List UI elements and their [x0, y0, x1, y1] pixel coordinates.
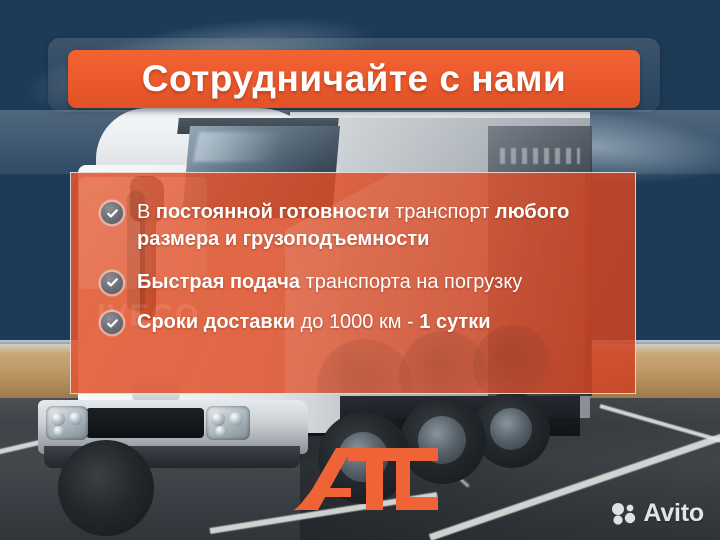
headlight-lamp [53, 426, 65, 437]
ghost-wheel [399, 331, 489, 393]
wheel-hub [490, 408, 532, 450]
mid-overlay-veil [0, 110, 720, 174]
feature-list: В постоянной готовности транспорт любого… [95, 199, 613, 336]
headlight-lamp [211, 412, 225, 426]
bumper-grille [86, 408, 204, 438]
list-item: В постоянной готовности транспорт любого… [95, 199, 613, 253]
feature-text-1: В постоянной готовности транспорт любого… [137, 199, 613, 253]
features-panel: IVECO В постоянной готовности транспорт … [70, 172, 636, 394]
page-title: Сотрудничайте с нами [142, 58, 567, 100]
feature-3-part-1: Сроки доставки [137, 311, 295, 333]
feature-3-part-3: 1 сутки [419, 311, 490, 333]
feature-1-part-2: постоянной готовности [156, 201, 390, 223]
feature-3-part-2: до 1000 км - [295, 311, 419, 333]
ghost-wheel [317, 339, 413, 393]
check-circle-icon [101, 202, 123, 224]
check-circle-icon [101, 272, 123, 294]
headlight-lamp [69, 412, 82, 425]
front-wheel [58, 440, 154, 536]
advertisement-banner: Сотрудничайте с нами IVECO В постоянной … [0, 0, 720, 540]
atc-logo [292, 448, 438, 510]
feature-2-part-2: транспорта на погрузку [300, 271, 522, 293]
avito-watermark: Avito [611, 499, 704, 528]
headline-banner: Сотрудничайте с нами [68, 50, 640, 108]
feature-1-part-3: транспорт [390, 201, 495, 223]
list-item: Сроки доставки до 1000 км - 1 сутки [95, 309, 613, 336]
feature-1-part-1: В [137, 201, 156, 223]
list-item: Быстрая подача транспорта на погрузку [95, 269, 613, 296]
avito-dots-icon [611, 503, 637, 525]
avito-wordmark: Avito [643, 499, 704, 528]
headlight-lamp [229, 412, 243, 426]
feature-text-3: Сроки доставки до 1000 км - 1 сутки [137, 309, 491, 336]
feature-text-2: Быстрая подача транспорта на погрузку [137, 269, 522, 296]
headlight-lamp [51, 412, 65, 426]
check-circle-icon [101, 312, 123, 334]
headlight-lamp [215, 426, 227, 437]
feature-2-part-1: Быстрая подача [137, 271, 300, 293]
